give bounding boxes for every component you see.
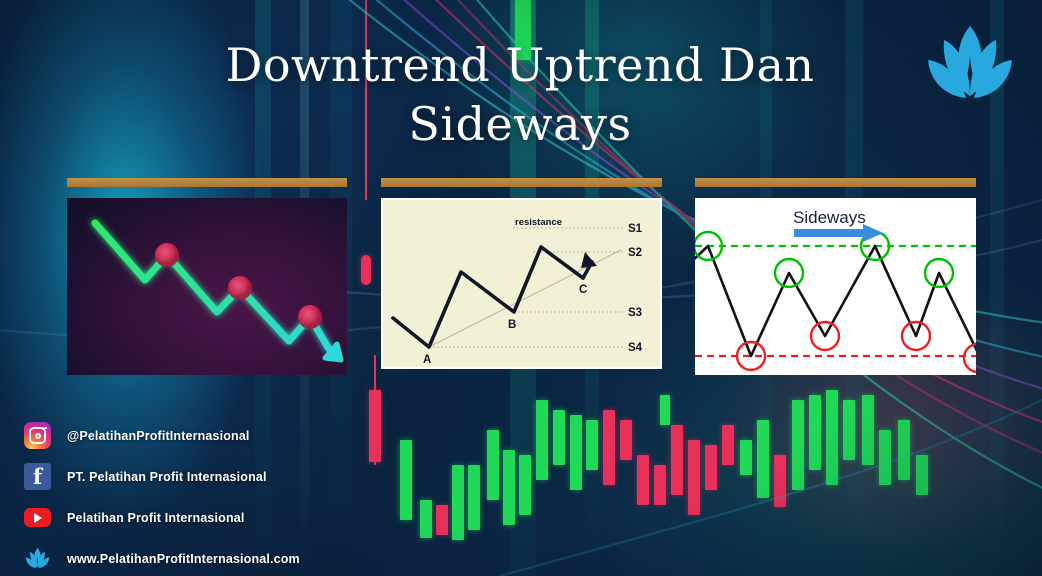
point-label-b: B xyxy=(508,319,516,331)
social-links: @PelatihanProfitInternasional f PT. Pela… xyxy=(24,415,424,576)
level-label-s1: S1 xyxy=(628,223,643,235)
uptrend-svg: resistance S1 S2 S3 S4 A B C xyxy=(383,200,660,367)
gold-accent-bar-2 xyxy=(381,178,662,187)
level-label-s4: S4 xyxy=(628,342,643,354)
gold-accent-bar-1 xyxy=(67,178,347,187)
lotus-icon xyxy=(24,545,51,572)
uptrend-chart: resistance S1 S2 S3 S4 A B C xyxy=(381,198,662,369)
point-label-a: A xyxy=(423,354,431,366)
price-path xyxy=(393,247,583,347)
sideways-arrow-label: Sideways xyxy=(793,208,866,227)
resistance-label: resistance xyxy=(515,217,562,228)
social-row-instagram[interactable]: @PelatihanProfitInternasional xyxy=(24,415,424,456)
sideways-chart: Sideways xyxy=(695,198,976,375)
youtube-icon xyxy=(24,504,51,531)
social-row-youtube[interactable]: Pelatihan Profit Internasional xyxy=(24,497,424,538)
title-line-2: Sideways xyxy=(150,95,890,154)
low-markers xyxy=(737,322,976,372)
social-row-website[interactable]: www.PelatihanProfitInternasional.com xyxy=(24,538,424,576)
downtrend-markers xyxy=(155,243,322,329)
slide-canvas: Downtrend Uptrend Dan Sideways xyxy=(0,0,1042,576)
facebook-icon: f xyxy=(24,463,51,490)
downtrend-svg xyxy=(67,198,347,375)
lotus-flower-icon xyxy=(922,20,1018,108)
high-markers xyxy=(695,232,953,287)
youtube-channel-name: Pelatihan Profit Internasional xyxy=(67,511,244,525)
level-label-s2: S2 xyxy=(628,247,642,259)
up-arrow-head xyxy=(581,252,597,268)
title-line-1: Downtrend Uptrend Dan xyxy=(150,36,890,95)
downtrend-chart xyxy=(67,198,347,375)
social-row-facebook[interactable]: f PT. Pelatihan Profit Internasional xyxy=(24,456,424,497)
instagram-handle: @PelatihanProfitInternasional xyxy=(67,429,250,443)
instagram-icon xyxy=(24,422,51,449)
point-label-c: C xyxy=(579,284,587,296)
facebook-page-name: PT. Pelatihan Profit Internasional xyxy=(67,470,267,484)
website-url: www.PelatihanProfitInternasional.com xyxy=(67,552,300,566)
level-label-s3: S3 xyxy=(628,307,642,319)
sideways-svg: Sideways xyxy=(695,198,976,375)
page-title: Downtrend Uptrend Dan Sideways xyxy=(150,36,890,154)
gold-accent-bar-3 xyxy=(695,178,976,187)
